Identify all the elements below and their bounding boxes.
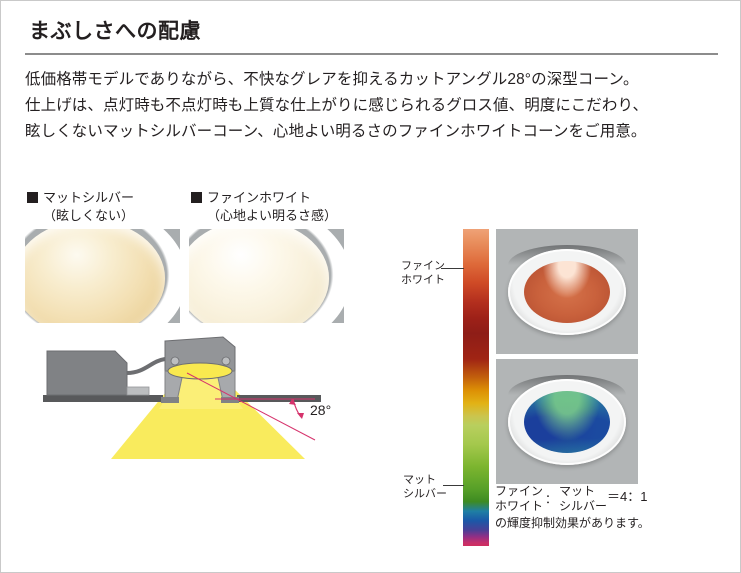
mount-screw-right-icon — [222, 357, 230, 365]
product-spec-page: まぶしさへの配慮 低価格帯モデルでありながら、不快なグレアを抑えるカットアングル… — [0, 0, 741, 573]
rim-highlight — [508, 249, 626, 335]
scale-label-fine-white-line1: ファイン — [401, 260, 445, 272]
swatch-title-matte-silver: マットシルバー — [43, 190, 134, 205]
ceiling-slab-left — [43, 395, 163, 402]
downlight-cone-graphic — [189, 229, 344, 323]
intro-paragraph: 低価格帯モデルでありながら、不快なグレアを抑えるカットアングル28°の深型コーン… — [25, 67, 725, 145]
scale-label-matte-silver-line2: シルバー — [403, 488, 447, 500]
luminance-ratio-note: ファイン ホワイト ： マット シルバー ＝4：1 の輝度抑制効果があります。 — [495, 484, 735, 532]
rim-highlight — [508, 379, 626, 465]
ratio-fine-white-line2: ホワイト — [495, 499, 543, 514]
square-bullet-icon — [191, 192, 202, 203]
driver-box-lip — [127, 387, 149, 395]
intro-line-2: 仕上げは、点灯時も不点灯時も上質な仕上がりに感じられるグロス値、明度にこだわり、 — [25, 93, 725, 119]
scale-leader-fine-white — [441, 268, 464, 269]
scale-label-matte-silver-line1: マット — [403, 474, 436, 486]
ratio-matte-silver-line2: シルバー — [559, 499, 607, 514]
ratio-term-matte-silver: マット シルバー — [559, 484, 607, 514]
downlight-rim — [508, 249, 626, 335]
page-title: まぶしさへの配慮 — [29, 15, 201, 45]
intro-line-1: 低価格帯モデルでありながら、不快なグレアを抑えるカットアングル28°の深型コーン… — [25, 67, 725, 93]
luminance-photo-fine-white — [496, 229, 638, 354]
led-lens — [168, 363, 232, 379]
ratio-equals-value: ＝4：1 — [607, 488, 647, 511]
ratio-colon: ： — [543, 491, 559, 508]
swatch-title-fine-white: ファインホワイト — [207, 190, 311, 205]
fixture-flange-right — [221, 397, 239, 403]
cone-edge — [189, 229, 344, 323]
swatch-caption-matte-silver: マットシルバー （眩しくない） — [27, 189, 134, 225]
ratio-term-fine-white: ファイン ホワイト — [495, 484, 543, 514]
luminance-photo-matte-silver — [496, 359, 638, 484]
ratio-note-line3: の輝度抑制効果があります。 — [495, 515, 735, 532]
luminance-scale-bar — [463, 229, 489, 546]
mount-screw-left-icon — [171, 357, 179, 365]
intro-line-3: 眩しくないマットシルバーコーン、心地よい明るさのファインホワイトコーンをご用意。 — [25, 119, 725, 145]
downlight-rim — [508, 379, 626, 465]
ratio-fine-white-line1: ファイン — [495, 484, 543, 499]
downlight-cone-graphic — [25, 229, 180, 323]
cut-angle-label: 28° — [310, 402, 331, 418]
swatch-subtitle-fine-white: （心地よい明るさ感） — [191, 207, 337, 225]
scale-leader-matte-silver — [443, 485, 464, 486]
angle-arrow-head-bottom — [297, 413, 304, 419]
title-divider — [25, 53, 718, 55]
product-photo-matte-silver — [25, 229, 180, 323]
driver-box — [47, 351, 127, 395]
connecting-wire — [127, 359, 165, 373]
swatch-caption-fine-white: ファインホワイト （心地よい明るさ感） — [191, 189, 337, 225]
scale-label-fine-white-line2: ホワイト — [401, 274, 445, 286]
swatch-subtitle-matte-silver: （眩しくない） — [27, 207, 134, 225]
scale-label-fine-white: ファイン ホワイト — [401, 259, 445, 287]
scale-label-matte-silver: マット シルバー — [403, 473, 447, 501]
cone-edge — [25, 229, 180, 323]
cut-angle-section-diagram: 28° — [15, 327, 375, 469]
ratio-matte-silver-line1: マット — [559, 484, 607, 499]
product-photo-fine-white — [189, 229, 344, 323]
fixture-flange-left — [161, 397, 179, 403]
square-bullet-icon — [27, 192, 38, 203]
